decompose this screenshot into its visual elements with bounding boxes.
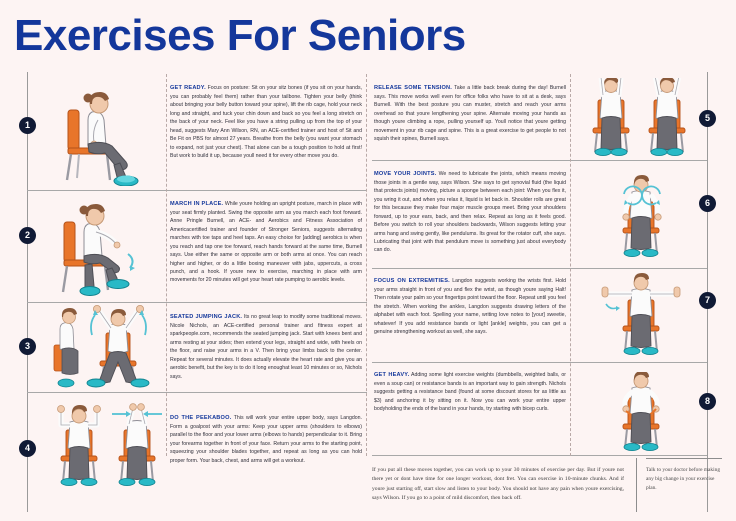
body-march-in-place: While youre holding an upright posture, … [170, 201, 362, 283]
step-badge-7: 7 [699, 292, 716, 309]
divider-left-3 [27, 392, 367, 393]
heading-focus-on-extremities: FOCUS ON EXTREMITIES. [374, 278, 450, 284]
infographic-page: Exercises For Seniors 1 2 3 4 5 6 7 8 GE… [0, 0, 736, 521]
divider-right-3 [372, 362, 707, 363]
illustration-seated-jumping-jack-pair [48, 305, 164, 389]
text-block-march-in-place: MARCH IN PLACE. While youre holding an u… [170, 200, 362, 285]
page-title: Exercises For Seniors [14, 14, 466, 58]
note-top-rule [646, 458, 722, 459]
heading-move-your-joints: MOVE YOUR JOINTS. [374, 171, 436, 177]
illustration-seated-march-in-place [50, 198, 162, 298]
doctor-advice-note: Talk to your doctor before making any bi… [646, 466, 722, 494]
step-badge-1: 1 [19, 117, 36, 134]
heading-release-some-tension: RELEASE SOME TENSION. [374, 85, 452, 91]
heading-get-heavy: GET HEAVY. [374, 372, 409, 378]
divider-right-4 [372, 455, 707, 456]
illustration-arms-overhead-reach-pair [578, 78, 698, 158]
body-do-the-peekaboo: This will work your entire upper body, s… [170, 415, 362, 464]
step-badge-5: 5 [699, 110, 716, 127]
text-block-release-some-tension: RELEASE SOME TENSION. Take a little back… [374, 84, 566, 144]
body-seated-jumping-jack: Its no great leap to modify some traditi… [170, 314, 362, 380]
heading-get-ready: GET READY. [170, 85, 206, 91]
column-separator-left [166, 74, 167, 456]
step-badge-2: 2 [19, 227, 36, 244]
illustration-shoulder-rolls-figure [598, 172, 688, 258]
note-left-rule [636, 458, 637, 512]
footer-summary-text: If you put all these moves together, you… [372, 466, 624, 503]
text-block-focus-on-extremities: FOCUS ON EXTREMITIES. Langdon suggests w… [374, 277, 566, 337]
illustration-wrist-and-ankle-figure [598, 272, 688, 356]
illustration-resistance-band-figure [598, 372, 688, 452]
step-badge-8: 8 [699, 393, 716, 410]
divider-left-2 [27, 302, 367, 303]
text-block-do-the-peekaboo: DO THE PEEKABOO. This will work your ent… [170, 414, 362, 465]
illustration-peekaboo-goalpost-pair [48, 400, 164, 486]
step-badge-4: 4 [19, 440, 36, 457]
illustration-seated-posture-side-view [52, 82, 160, 186]
heading-do-the-peekaboo: DO THE PEEKABOO. [170, 415, 231, 421]
text-block-get-heavy: GET HEAVY. Adding some light exercise we… [374, 371, 566, 414]
body-move-your-joints: We need to lubricate the joints, which m… [374, 171, 566, 253]
step-badge-3: 3 [19, 338, 36, 355]
text-block-move-your-joints: MOVE YOUR JOINTS. We need to lubricate t… [374, 170, 566, 255]
divider-left-1 [27, 190, 367, 191]
text-block-seated-jumping-jack: SEATED JUMPING JACK. Its no great leap t… [170, 313, 362, 381]
step-badge-6: 6 [699, 195, 716, 212]
heading-seated-jumping-jack: SEATED JUMPING JACK. [170, 314, 242, 320]
body-focus-on-extremities: Langdon suggests working the wrists firs… [374, 278, 566, 335]
body-get-heavy: Adding some light exercise weights (dumb… [374, 372, 566, 412]
column-separator-center [366, 74, 367, 456]
text-block-get-ready: GET READY. Focus on posture: Sit on your… [170, 84, 362, 160]
column-separator-right [570, 74, 571, 456]
body-get-ready: Focus on posture: Sit on your sitz bones… [170, 85, 362, 159]
body-release-some-tension: Take a little back break during the day!… [374, 85, 566, 142]
divider-right-2 [372, 268, 707, 269]
divider-right-1 [372, 160, 707, 161]
heading-march-in-place: MARCH IN PLACE. [170, 201, 223, 207]
